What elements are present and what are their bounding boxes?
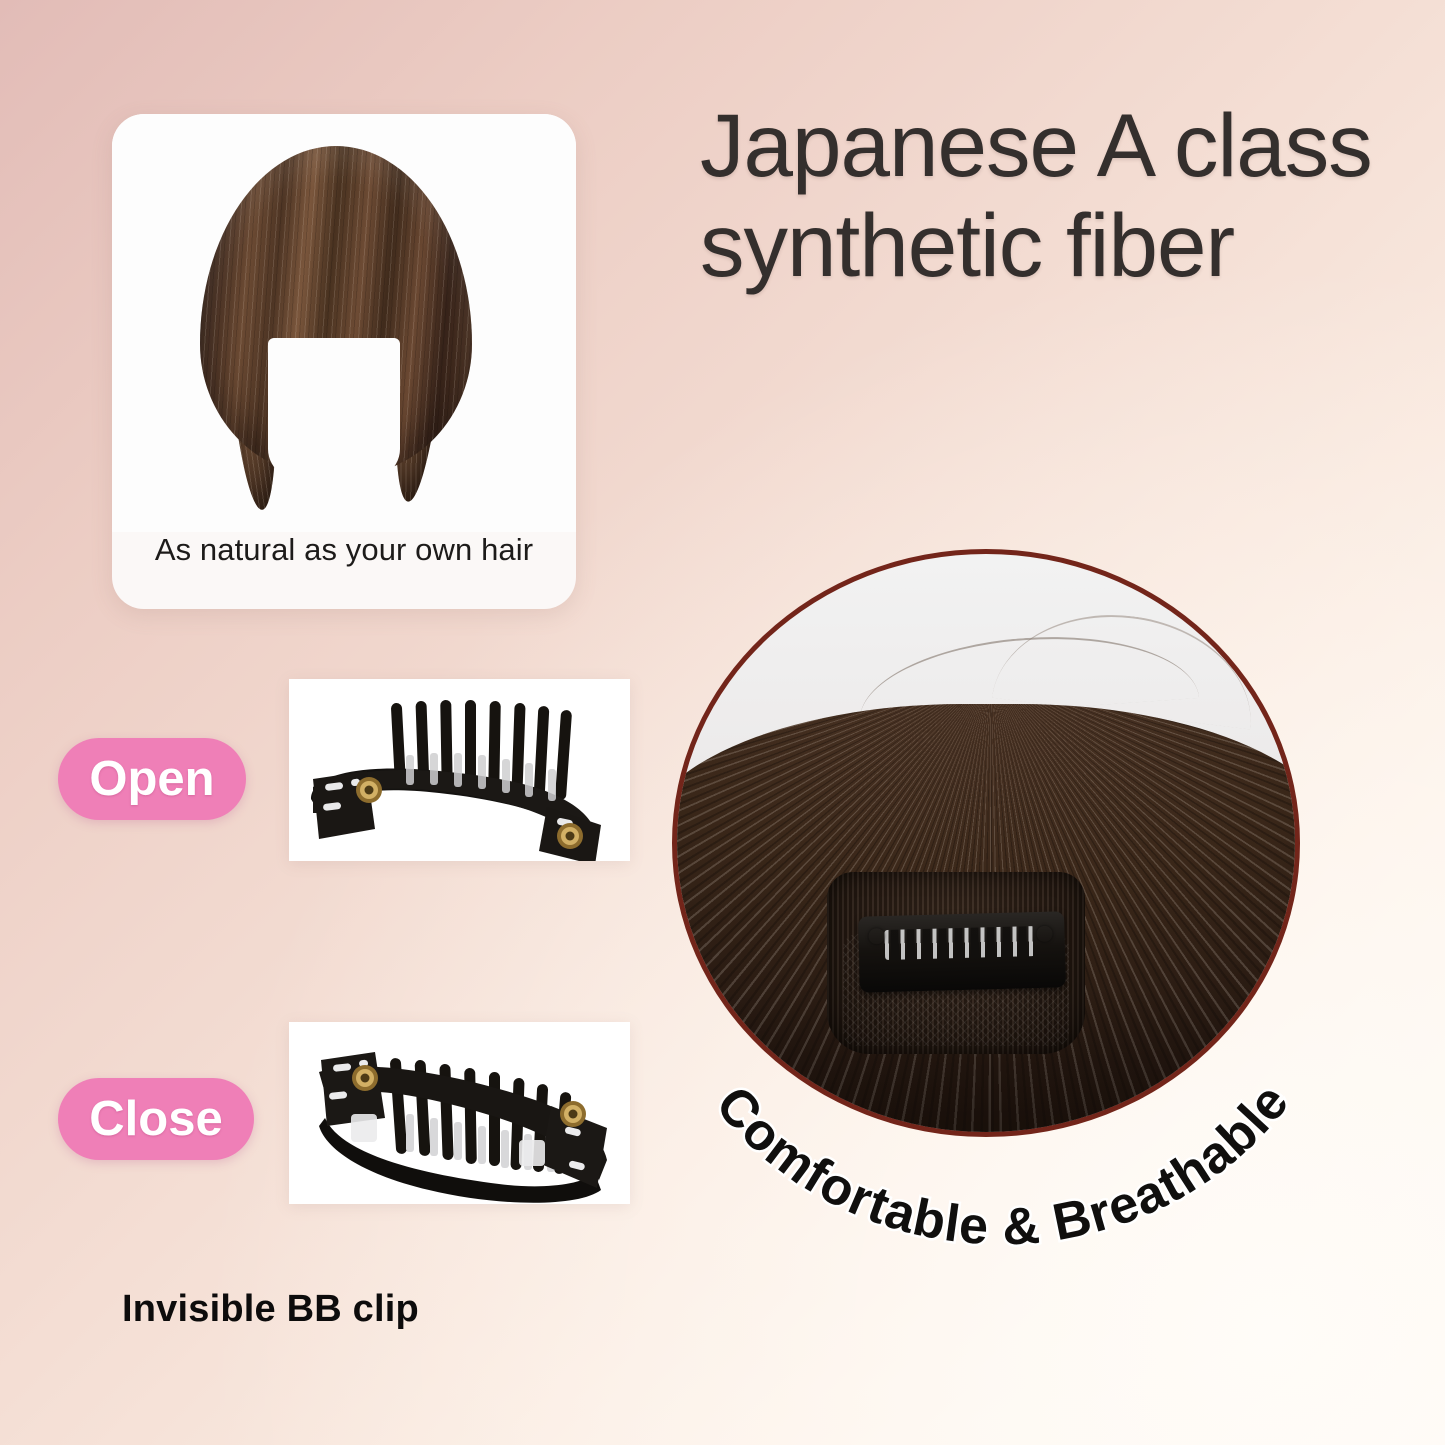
arc-caption-text: Comfortable & Breathable — [704, 1073, 1300, 1257]
forehead-gap — [268, 338, 400, 488]
invisible-bb-clip-label: Invisible BB clip — [122, 1288, 419, 1331]
status-badge-close: Close — [58, 1078, 254, 1160]
product-marketing-poster: Japanese A class synthetic fiber As natu… — [0, 0, 1445, 1445]
snap-clip-closed-photo — [289, 1022, 630, 1204]
clip-in-bangs-photo — [112, 114, 576, 532]
arc-caption: Comfortable & Breathable — [640, 940, 1360, 1360]
page-title: Japanese A class synthetic fiber — [700, 96, 1420, 295]
badge-close-label: Close — [89, 1091, 222, 1147]
bangs-caption: As natural as your own hair — [112, 532, 576, 568]
bangs-feature-card: As natural as your own hair — [112, 114, 576, 609]
status-badge-open: Open — [58, 738, 246, 820]
headline-line-2: synthetic fiber — [700, 196, 1420, 296]
snap-clip-closed-drawing — [289, 1022, 630, 1204]
snap-clip-open-drawing — [289, 679, 630, 861]
headline-line-1: Japanese A class — [700, 95, 1372, 195]
arc-caption-label: Comfortable & Breathable — [704, 1073, 1300, 1257]
snap-clip-open-photo — [289, 679, 630, 861]
badge-open-label: Open — [89, 751, 214, 807]
snap-clip-open-icon — [289, 679, 630, 861]
snap-clip-closed-icon — [289, 1022, 630, 1204]
